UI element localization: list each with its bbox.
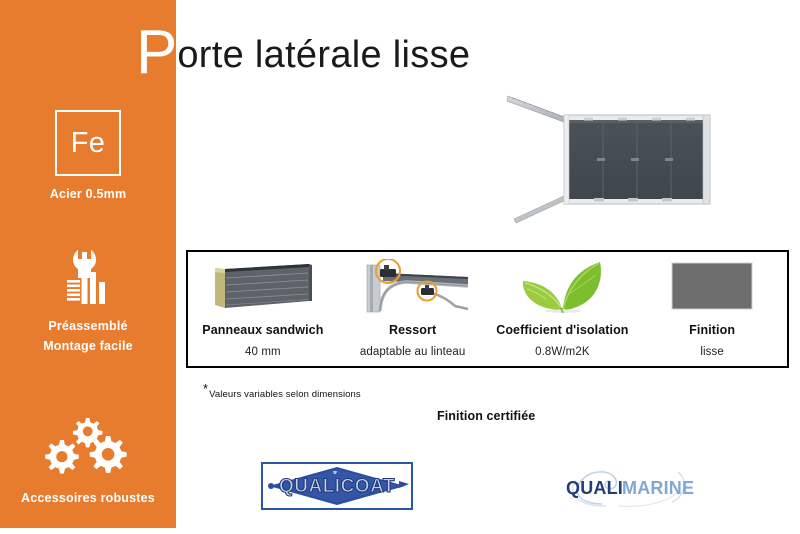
feature-subtitle: 40 mm: [245, 346, 281, 358]
sidebar-item-label: Préassemblé: [0, 317, 176, 336]
feature-subtitle: lisse: [700, 346, 724, 358]
sandwich-panel-photo: [209, 257, 317, 315]
feature-finition[interactable]: Finition lisse: [637, 252, 787, 366]
sidebar-item-label: Acier 0.5mm: [0, 185, 176, 204]
sidebar-item-label: Accessoires robustes: [0, 489, 176, 508]
feature-title: Coefficient d'isolation: [496, 323, 628, 337]
wrench-assembly-icon: [0, 246, 176, 308]
features-panel: Panneaux sandwich 40 mm: [186, 250, 789, 368]
footnote: *Valeurs variables selon dimensions: [203, 381, 361, 400]
certification-heading: Finition certifiée: [437, 409, 535, 423]
feature-subtitle: adaptable au linteau: [360, 346, 466, 358]
gears-icon: [0, 418, 176, 480]
green-leaves-icon: [516, 257, 608, 315]
feature-coefficient-isolation[interactable]: Coefficient d'isolation 0.8W/m2K: [488, 252, 638, 366]
feature-title: Ressort: [389, 323, 436, 337]
qualimarine-wordmark-quali: QUALI: [566, 478, 623, 498]
page-title: Porte latérale lisse: [136, 22, 470, 84]
fe-symbol-label: Fe: [71, 127, 106, 160]
fe-element-box-icon: Fe: [55, 110, 121, 176]
sidebar-item-sublabel: Montage facile: [0, 337, 176, 356]
spring-mechanism-photo: [355, 257, 470, 315]
side-door-product-photo: [500, 88, 730, 228]
feature-title: Panneaux sandwich: [202, 323, 323, 337]
footnote-asterisk: *: [203, 381, 208, 396]
sidebar-item-preassemble[interactable]: Préassemblé Montage facile: [0, 246, 176, 356]
page-title-rest: orte latérale lisse: [177, 34, 470, 76]
finish-color-swatch: [670, 257, 754, 315]
feature-subtitle: 0.8W/m2K: [535, 346, 589, 358]
feature-ressort[interactable]: Ressort adaptable au linteau: [338, 252, 488, 366]
footnote-text: Valeurs variables selon dimensions: [209, 389, 361, 400]
qualicoat-wordmark: QUALICOAT: [279, 476, 395, 497]
slide-page: Fe Acier 0.5mm: [0, 0, 800, 534]
feature-title: Finition: [689, 323, 735, 337]
feature-panneaux-sandwich[interactable]: Panneaux sandwich 40 mm: [188, 252, 338, 366]
qualimarine-wordmark-marine: MARINE: [622, 478, 694, 498]
page-title-initial: P: [136, 18, 177, 87]
sidebar-item-accessoires[interactable]: Accessoires robustes: [0, 418, 176, 508]
qualimarine-logo: QUALI MARINE: [560, 466, 710, 508]
sidebar-item-acier[interactable]: Fe Acier 0.5mm: [0, 110, 176, 204]
qualicoat-logo: QUALICOAT: [261, 462, 413, 510]
